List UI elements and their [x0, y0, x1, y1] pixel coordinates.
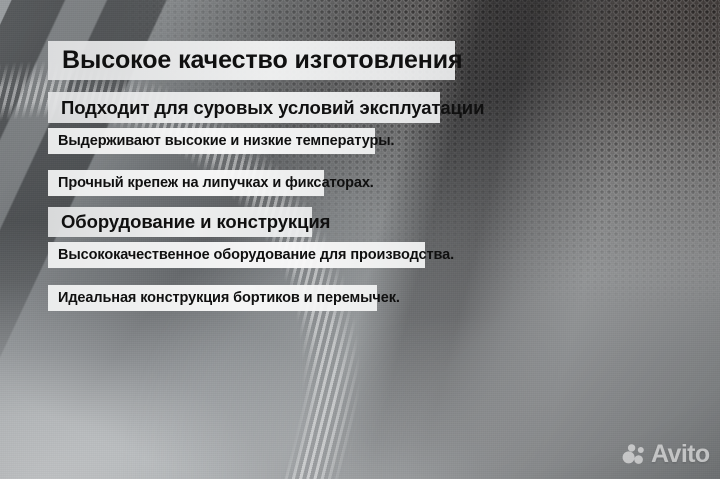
callout-feature-equipment: Высококачественное оборудование для прои… — [48, 242, 425, 268]
avito-watermark: Avito — [622, 442, 710, 467]
callout-heading-conditions: Подходит для суровых условий эксплуатаци… — [48, 92, 440, 123]
callout-feature-temperature: Выдерживают высокие и низкие температуры… — [48, 128, 375, 154]
callout-feature-fasteners: Прочный крепеж на липучках и фиксаторах. — [48, 170, 324, 196]
avito-watermark-label: Avito — [651, 442, 710, 467]
callout-feature-construction: Идеальная конструкция бортиков и перемыч… — [48, 285, 377, 311]
listing-image: Высокое качество изготовления Подходит д… — [0, 0, 720, 479]
avito-dots-icon — [622, 443, 646, 467]
callout-heading-quality: Высокое качество изготовления — [48, 41, 455, 80]
callout-heading-equipment: Оборудование и конструкция — [48, 207, 312, 237]
